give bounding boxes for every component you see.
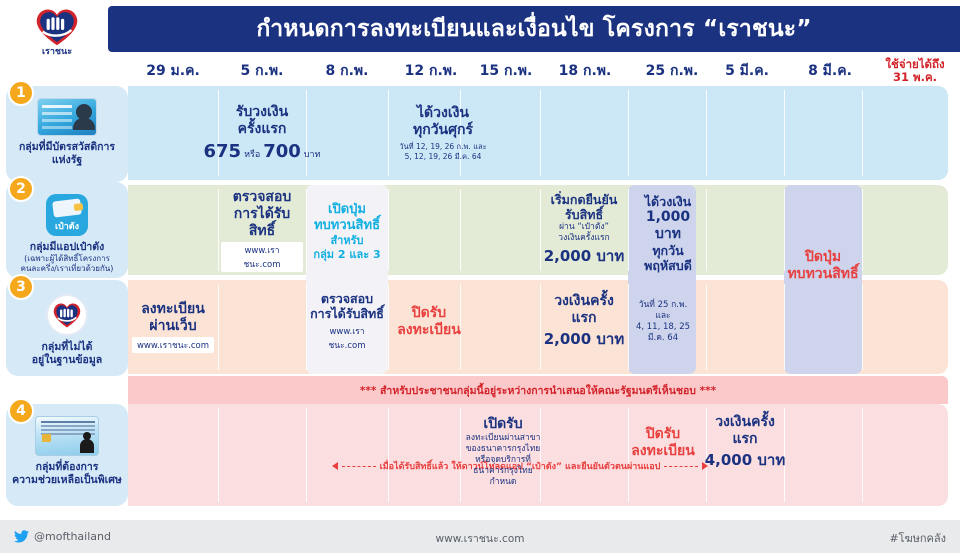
footer-bar: @mofthailand www.เราชนะ.com #โฆษกคลัง [0, 520, 960, 553]
date-header-8mar: 8 มี.ค. [788, 56, 872, 86]
date-header-8feb: 8 ก.พ. [306, 56, 388, 86]
cell-r2-25feb-line3: ทุกวันพฤหัสบดี [631, 243, 705, 273]
cell-r2-25feb-line2: 1,000 บาท [631, 209, 705, 243]
cell-r2-8feb-line4: กลุ่ม 2 และ 3 [313, 248, 380, 262]
sep-r1-g [706, 90, 707, 176]
date-header-29jan: 29 ม.ค. [128, 56, 218, 86]
cell-r3-8feb: ตรวจสอบ การได้รับสิทธิ์ www.เราชนะ.com [306, 284, 388, 360]
heart-small-icon [51, 301, 83, 329]
sep-r4-a [218, 408, 219, 502]
row-label-2: กลุ่มมีแอปเป๋าตัง [26, 241, 108, 254]
footer-hashtag-wrap: #โฆษกคลัง [889, 527, 946, 547]
sep-r1-f [628, 90, 629, 176]
cell-r4-15feb-sub4: ธนาคารกรุงไทย [473, 466, 533, 477]
amount-unit: บาท [304, 147, 321, 161]
row-label-2-sub1: (เฉพาะผู้ได้สิทธิ์โครงการ [21, 254, 113, 264]
cell-r1-12feb-sub2: 5, 12, 19, 26 มี.ค. 64 [405, 152, 482, 162]
sep-r4-i [862, 408, 863, 502]
date-header-row: 29 ม.ค. 5 ก.พ. 8 ก.พ. 12 ก.พ. 15 ก.พ. 18… [0, 56, 960, 86]
cell-r3-25feb-sub1: วันที่ 25 ก.พ. และ [631, 300, 695, 322]
cell-r3-18feb-line2: 2,000 บาท [544, 327, 625, 351]
footer-website-wrap: www.เราชนะ.com [0, 527, 960, 547]
cell-r4-5mar-line1: วงเงินครั้งแรก [703, 414, 787, 448]
cell-r3-8feb-url[interactable]: www.เราชนะ.com [309, 323, 385, 353]
row-label-1-line1: กลุ่มที่มีบัตรสวัสดิการ [15, 141, 119, 154]
cell-r3-29jan: ลงทะเบียน ผ่านเว็บ www.เราชนะ.com [128, 284, 218, 370]
cell-r1-5feb-line2: ครั้งแรก [238, 121, 287, 138]
row-badge-2: 2 [8, 176, 34, 202]
row-label-3-line1: กลุ่มที่ไม่ได้ [38, 341, 97, 354]
cell-r4-5mar: วงเงินครั้งแรก 4,000 บาท [700, 416, 790, 470]
paotang-app-icon: เป๋าตัง [46, 194, 88, 236]
arrow-left-icon [332, 462, 338, 470]
cell-r4-15feb: เปิดรับ ลงทะเบียนผ่านสาขา ของธนาคารกรุงไ… [460, 408, 546, 502]
row-badge-1: 1 [8, 80, 34, 106]
cell-r2-25feb: ได้วงเงิน 1,000 บาท ทุกวันพฤหัสบดี [628, 196, 708, 270]
cell-r2-18feb-amount: 2,000 บาท [544, 244, 625, 268]
cell-r3-25feb-sub3: มี.ค. 64 [648, 333, 678, 344]
cell-r1-12feb-sub1: วันที่ 12, 19, 26 ก.พ. และ [399, 142, 486, 152]
sep-r1-i [862, 90, 863, 176]
cell-r2-5feb-line2: การได้รับสิทธิ์ [221, 206, 303, 240]
cell-r2-5feb-line1: ตรวจสอบ [233, 189, 292, 206]
amount-675: 675 [203, 141, 241, 162]
amount-700: 700 [263, 141, 301, 162]
cell-r1-5feb-line1: รับวงเงิน [236, 104, 288, 121]
sep-r1-e [540, 90, 541, 176]
cell-r3-8feb-line1: ตรวจสอบ [321, 291, 373, 306]
cell-r2-5feb: ตรวจสอบ การได้รับสิทธิ์ www.เราชนะ.com [218, 189, 306, 271]
amount-conj: หรือ [244, 147, 260, 161]
page-title: กำหนดการลงทะเบียนและเงื่อนไข โครงการ “เร… [256, 11, 811, 47]
cell-r3-12feb: ปิดรับ ลงทะเบียน [388, 284, 470, 360]
cell-r3-25feb-sub2: 4, 11, 18, 25 [636, 322, 690, 333]
heart-logo-icon [33, 5, 81, 47]
cell-r3-12feb-line2: ลงทะเบียน [397, 322, 461, 339]
row-label-1-line2: แห่งรัฐ [48, 154, 86, 167]
sep-r1-h [784, 90, 785, 176]
dash-line-left [342, 466, 376, 467]
cell-r2-18feb: เริ่มกดยืนยัน รับสิทธิ์ ผ่าน “เป๋าตัง” ว… [540, 186, 628, 274]
paotang-app-label: เป๋าตัง [55, 219, 79, 233]
cell-r2-18feb-line2: รับสิทธิ์ [565, 207, 603, 222]
date-header-18feb: 18 ก.พ. [540, 56, 630, 86]
sep-r2-i [862, 189, 863, 271]
cell-r1-5feb: รับวงเงิน ครั้งแรก 675 หรือ 700 บาท [218, 90, 306, 176]
brand-logo: เราชนะ [8, 4, 106, 58]
cell-r1-12feb: ได้วงเงิน ทุกวันศุกร์ วันที่ 12, 19, 26 … [388, 90, 498, 176]
cell-r4-25feb-line1: ปิดรับ [646, 426, 680, 443]
sep-r2-c [388, 189, 389, 271]
cell-r3-8feb-line2: การได้รับสิทธิ์ [310, 306, 384, 321]
cell-r4-25feb: ปิดรับ ลงทะเบียน [628, 416, 698, 470]
cell-r2-25feb-line1: ได้วงเงิน [645, 194, 691, 209]
sep-r1-b [306, 90, 307, 176]
welfare-card-icon [37, 98, 97, 136]
cell-r1-12feb-line2: ทุกวันศุกร์ [413, 122, 473, 139]
cell-r3-18feb: วงเงินครั้งแรก 2,000 บาท [540, 284, 628, 360]
row-label-4-line1: กลุ่มที่ต้องการ [32, 461, 103, 474]
raochana-logo-icon [46, 294, 88, 336]
cell-r4-25feb-line2: ลงทะเบียน [631, 443, 695, 460]
sep-r4-b [306, 408, 307, 502]
cell-r4-15feb-sub5: กำหนด [490, 477, 517, 488]
cell-r2-8feb-line1: เปิดปุ่ม [328, 202, 366, 218]
date-header-25feb: 25 ก.พ. [628, 56, 716, 86]
row-badge-3: 3 [8, 274, 34, 300]
date-header-spend-until: ใช้จ่ายได้ถึง 31 พ.ค. [872, 54, 958, 88]
cell-r2-18feb-sub2: วงเงินครั้งแรก [558, 233, 609, 244]
cell-r3-25feb: วันที่ 25 ก.พ. และ 4, 11, 18, 25 มี.ค. 6… [628, 284, 698, 360]
date-header-15feb: 15 ก.พ. [460, 56, 552, 86]
cell-r2-18feb-sub1: ผ่าน “เป๋าตัง” [559, 222, 609, 233]
footer-website[interactable]: www.เราชนะ.com [436, 533, 525, 545]
sep-r3-g [706, 284, 707, 370]
sep-r3-i [862, 284, 863, 370]
sep-r4-c [388, 408, 389, 502]
cell-r4-5mar-line2: 4,000 บาท [705, 448, 786, 472]
sep-r3-h [784, 284, 785, 370]
cell-r2-5feb-url[interactable]: www.เราชนะ.com [221, 242, 303, 272]
cell-r3-29jan-url[interactable]: www.เราชนะ.com [132, 337, 214, 353]
row4-cabinet-note: *** สำหรับประชาชนกลุ่มนี้อยู่ระหว่างการน… [128, 376, 948, 404]
cell-r2-18feb-line1: เริ่มกดยืนยัน [551, 192, 618, 207]
row-badge-4: 4 [8, 398, 34, 424]
cell-r4-15feb-line1: เปิดรับ [483, 416, 522, 433]
cell-r23-8mar: ปิดปุ่ม ทบทวนสิทธิ์ [784, 236, 862, 296]
row4-note-text: *** สำหรับประชาชนกลุ่มนี้อยู่ระหว่างการน… [360, 382, 716, 399]
date-header-5feb: 5 ก.พ. [218, 56, 306, 86]
cell-r3-18feb-line1: วงเงินครั้งแรก [543, 293, 625, 327]
spend-until-line2: 31 พ.ค. [893, 71, 937, 84]
row-label-4-line2: ความช่วยเหลือเป็นพิเศษ [8, 474, 126, 487]
footer-hashtag: #โฆษกคลัง [889, 532, 946, 545]
date-header-5mar: 5 มี.ค. [706, 56, 788, 86]
cell-r23-8mar-line2: ทบทวนสิทธิ์ [787, 266, 858, 283]
cell-r3-12feb-line1: ปิดรับ [412, 305, 446, 322]
row-label-2-sub2: คนละครึ่ง/เราเที่ยวด้วยกัน) [18, 264, 117, 274]
sep-r2-d [460, 189, 461, 271]
row-label-3-line2: อยู่ในฐานข้อมูล [28, 354, 106, 367]
cell-r4-15feb-sub3: หรือจุดบริการที่ [475, 455, 531, 466]
infographic-root: กำหนดการลงทะเบียนและเงื่อนไข โครงการ “เร… [0, 0, 960, 553]
timeline-grid: *** สำหรับประชาชนกลุ่มนี้อยู่ระหว่างการน… [0, 86, 960, 520]
cell-r1-12feb-line1: ได้วงเงิน [417, 105, 469, 122]
cell-r1-5feb-amount: 675 หรือ 700 บาท [203, 141, 320, 162]
cell-r3-29jan-line1: ลงทะเบียน [141, 301, 205, 318]
sep-r3-a [218, 284, 219, 370]
header-bar: กำหนดการลงทะเบียนและเงื่อนไข โครงการ “เร… [108, 6, 960, 52]
id-card-icon [35, 416, 99, 456]
cell-r2-8feb-line3: สำหรับ [330, 234, 363, 248]
cell-r4-15feb-sub1: ลงทะเบียนผ่านสาขา [466, 433, 541, 444]
cell-r23-8mar-line1: ปิดปุ่ม [805, 249, 841, 266]
cell-r2-8feb: เปิดปุ่ม ทบทวนสิทธิ์ สำหรับ กลุ่ม 2 และ … [306, 189, 388, 275]
cell-r3-29jan-line2: ผ่านเว็บ [149, 318, 196, 335]
cell-r2-8feb-line2: ทบทวนสิทธิ์ [314, 218, 380, 234]
cell-r4-15feb-sub2: ของธนาคารกรุงไทย [466, 444, 541, 455]
